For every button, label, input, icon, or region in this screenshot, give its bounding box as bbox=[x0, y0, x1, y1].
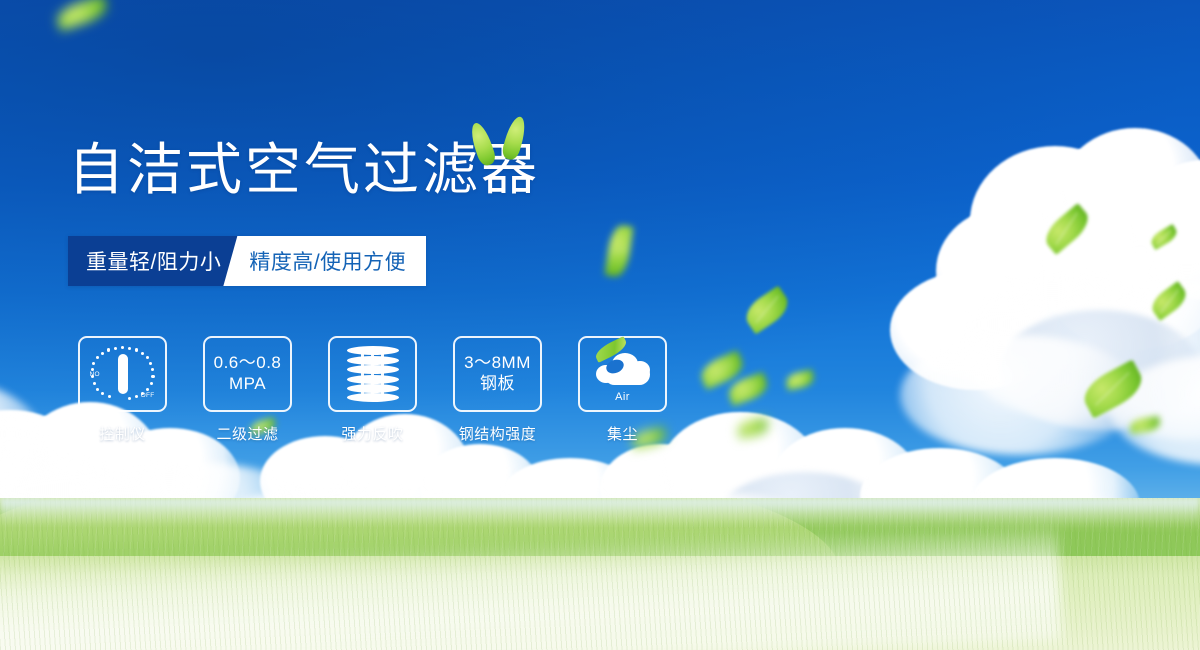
sprout-leaf-left bbox=[467, 120, 497, 167]
horizon-blend bbox=[0, 498, 1200, 526]
feature-icon-box: 0.6～0.8 MPA bbox=[203, 336, 292, 412]
steel-thickness: 3～8MM bbox=[464, 353, 531, 374]
steel-material: 钢板 bbox=[464, 374, 531, 395]
gauge-needle bbox=[118, 354, 128, 394]
feature-caption: 二级过滤 bbox=[216, 423, 278, 444]
feature-icon-row: NO OFF 控制仪 0.6～0.8 MPA 二级过滤 bbox=[78, 336, 667, 444]
subtitle-banner: 重量轻/阻力小 精度高/使用方便 bbox=[68, 236, 426, 286]
pressure-value: 0.6～0.8 bbox=[214, 353, 282, 374]
steel-plate-text-icon: 3～8MM 钢板 bbox=[464, 353, 531, 394]
feature-caption: 控制仪 bbox=[99, 423, 146, 444]
feature-item-controller[interactable]: NO OFF 控制仪 bbox=[78, 336, 167, 444]
subtitle-right-panel: 精度高/使用方便 bbox=[223, 236, 426, 286]
feature-icon-box: Air bbox=[578, 336, 667, 412]
feature-icon-box: 3～8MM 钢板 bbox=[453, 336, 542, 412]
feature-item-strong-blowback[interactable]: 强力反吹 bbox=[328, 336, 417, 444]
filter-stack-icon bbox=[347, 346, 399, 402]
gauge-off-label: OFF bbox=[141, 392, 155, 399]
subtitle-left-panel: 重量轻/阻力小 bbox=[68, 236, 237, 286]
pressure-unit: MPA bbox=[214, 374, 282, 395]
feature-item-steel-strength[interactable]: 3～8MM 钢板 钢结构强度 bbox=[453, 336, 542, 444]
pressure-text-icon: 0.6～0.8 MPA bbox=[214, 353, 282, 394]
cloud-air-label: Air bbox=[592, 391, 654, 403]
sprout-leaves-decoration bbox=[466, 112, 536, 168]
cloud-air-icon: Air bbox=[592, 347, 654, 401]
air-filter-hero-banner: 自洁式空气过滤器 重量轻/阻力小 精度高/使用方便 bbox=[0, 0, 1200, 650]
feature-item-secondary-filtration[interactable]: 0.6～0.8 MPA 二级过滤 bbox=[203, 336, 292, 444]
feature-caption: 强力反吹 bbox=[341, 423, 403, 444]
feature-icon-box: NO OFF bbox=[78, 336, 167, 412]
gauge-no-label: NO bbox=[90, 371, 100, 378]
feature-item-dust-collection[interactable]: Air 集尘 bbox=[578, 336, 667, 444]
gauge-icon: NO OFF bbox=[92, 345, 154, 403]
feature-icon-box bbox=[328, 336, 417, 412]
sprout-leaf-right bbox=[500, 115, 528, 162]
feature-caption: 集尘 bbox=[607, 423, 638, 444]
grass-field bbox=[0, 498, 1200, 650]
feature-caption: 钢结构强度 bbox=[459, 423, 537, 444]
